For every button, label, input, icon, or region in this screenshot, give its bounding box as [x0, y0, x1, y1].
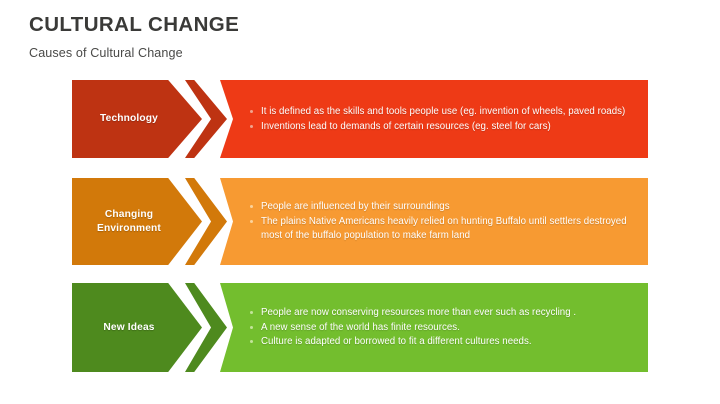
row-label-2: New Ideas — [103, 321, 154, 334]
list-item: Inventions lead to demands of certain re… — [250, 120, 636, 134]
list-item: Culture is adapted or borrowed to fit a … — [250, 335, 636, 349]
slide-header: CULTURAL CHANGE Causes of Cultural Chang… — [29, 14, 669, 60]
bullet-text: People are influenced by their surroundi… — [261, 201, 450, 212]
process-row-changing-environment[interactable]: Changing Environment People are influenc… — [72, 178, 648, 265]
slide-canvas: CULTURAL CHANGE Causes of Cultural Chang… — [0, 0, 720, 404]
bullet-text: Inventions lead to demands of certain re… — [261, 121, 551, 132]
bullet-text: People are now conserving resources more… — [261, 307, 576, 318]
row-label-1: Changing Environment — [72, 208, 186, 235]
bullet-dot-icon — [250, 340, 253, 343]
row-chevron-label-block-2[interactable]: New Ideas — [72, 283, 202, 372]
bullet-list-1: People are influenced by their surroundi… — [250, 200, 636, 242]
row-content-panel-2[interactable]: People are now conserving resources more… — [220, 283, 648, 372]
list-item: People are now conserving resources more… — [250, 306, 636, 320]
row-content-panel-0[interactable]: It is defined as the skills and tools pe… — [220, 80, 648, 158]
bullet-dot-icon — [250, 125, 253, 128]
page-subtitle: Causes of Cultural Change — [29, 46, 669, 60]
process-row-new-ideas[interactable]: New Ideas People are now conserving reso… — [72, 283, 648, 372]
row-label-0: Technology — [100, 112, 158, 125]
bullet-list-0: It is defined as the skills and tools pe… — [250, 105, 636, 134]
bullet-dot-icon — [250, 311, 253, 314]
bullet-text: The plains Native Americans heavily reli… — [261, 216, 627, 241]
page-title: CULTURAL CHANGE — [29, 14, 669, 37]
bullet-text: Culture is adapted or borrowed to fit a … — [261, 336, 532, 347]
list-item: It is defined as the skills and tools pe… — [250, 105, 636, 119]
list-item: The plains Native Americans heavily reli… — [250, 215, 636, 243]
row-chevron-label-block-1[interactable]: Changing Environment — [72, 178, 202, 265]
bullet-text: It is defined as the skills and tools pe… — [261, 106, 625, 117]
process-row-technology[interactable]: Technology It is defined as the skills a… — [72, 80, 648, 158]
bullet-dot-icon — [250, 326, 253, 329]
bullet-list-2: People are now conserving resources more… — [250, 306, 636, 349]
bullet-dot-icon — [250, 110, 253, 113]
row-chevron-label-block-0[interactable]: Technology — [72, 80, 202, 158]
bullet-dot-icon — [250, 205, 253, 208]
bullet-text: A new sense of the world has finite reso… — [261, 322, 460, 333]
row-content-panel-1[interactable]: People are influenced by their surroundi… — [220, 178, 648, 265]
list-item: People are influenced by their surroundi… — [250, 200, 636, 214]
list-item: A new sense of the world has finite reso… — [250, 321, 636, 335]
bullet-dot-icon — [250, 220, 253, 223]
